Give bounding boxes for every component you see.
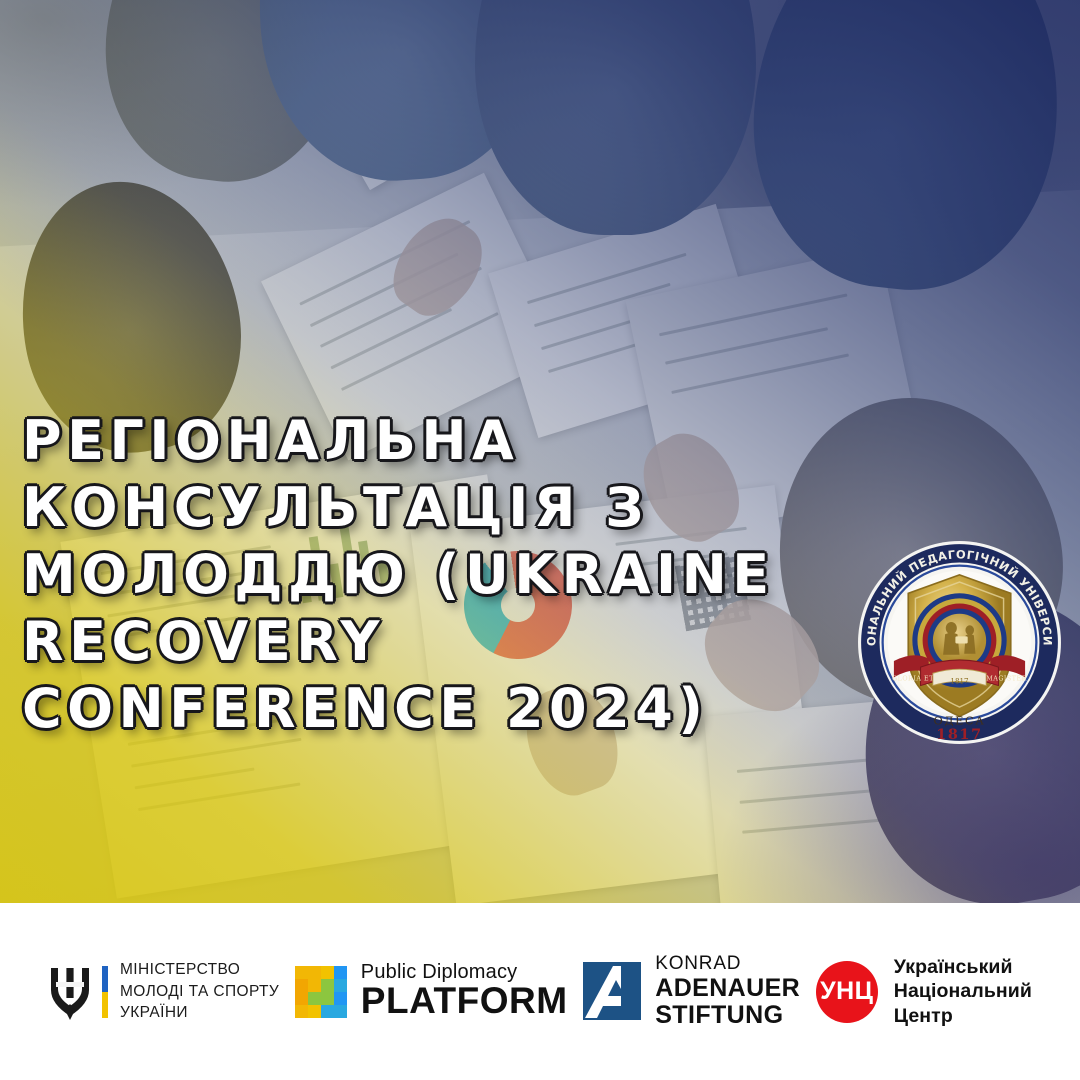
logo-unc-label: Український Національний Центр <box>894 955 1032 1028</box>
seal-scroll-year: 1817 <box>950 677 969 686</box>
page-title: РЕГІОНАЛЬНА КОНСУЛЬТАЦІЯ З МОЛОДДЮ (UKRA… <box>22 408 902 743</box>
unc-monogram: УНЦ <box>820 977 873 1006</box>
logo-public-diplomacy-platform[interactable]: Public Diplomacy PLATFORM <box>295 962 568 1021</box>
logo-kas-line3: STIFTUNG <box>655 1002 800 1029</box>
logo-kas-text: KONRAD ADENAUER STIFTUNG <box>655 954 800 1029</box>
unc-red-circle-icon: УНЦ <box>816 961 878 1023</box>
footer-logo-bar: МІНІСТЕРСТВО МОЛОДІ ТА СПОРТУ УКРАЇНИ Pu… <box>0 903 1080 1080</box>
logo-pdp-text: Public Diplomacy PLATFORM <box>361 962 568 1021</box>
logo-ministry-of-youth-and-sports[interactable]: МІНІСТЕРСТВО МОЛОДІ ТА СПОРТУ УКРАЇНИ <box>48 959 279 1023</box>
logo-kas-line2: ADENAUER <box>655 975 800 1002</box>
logo-pdp-line1: Public Diplomacy <box>361 962 568 982</box>
university-seal-icon: ПІВДЕННОУКРАЇНСЬКИЙ НАЦІОНАЛЬНИЙ ПЕДАГОГ… <box>857 540 1062 745</box>
logo-kas-line1: KONRAD <box>655 954 800 975</box>
hero-photo-area: РЕГІОНАЛЬНА КОНСУЛЬТАЦІЯ З МОЛОДДЮ (UKRA… <box>0 0 1080 903</box>
pixel-grid-icon <box>295 966 347 1018</box>
logo-konrad-adenauer-stiftung[interactable]: KONRAD ADENAUER STIFTUNG <box>583 954 800 1029</box>
logo-pdp-line2: PLATFORM <box>361 982 568 1021</box>
seal-year: 1817 <box>936 727 982 743</box>
seal-city: ОДЕСА <box>934 715 986 728</box>
logo-ministry-label: МІНІСТЕРСТВО МОЛОДІ ТА СПОРТУ УКРАЇНИ <box>120 959 279 1023</box>
ukraine-trident-icon <box>48 964 92 1020</box>
logo-ukrainian-national-center[interactable]: УНЦ Український Національний Центр <box>816 955 1032 1028</box>
ministry-accent-bar <box>102 966 108 1018</box>
poster-root: РЕГІОНАЛЬНА КОНСУЛЬТАЦІЯ З МОЛОДДЮ (UKRA… <box>0 0 1080 1080</box>
kas-a-mark-icon <box>583 962 641 1020</box>
